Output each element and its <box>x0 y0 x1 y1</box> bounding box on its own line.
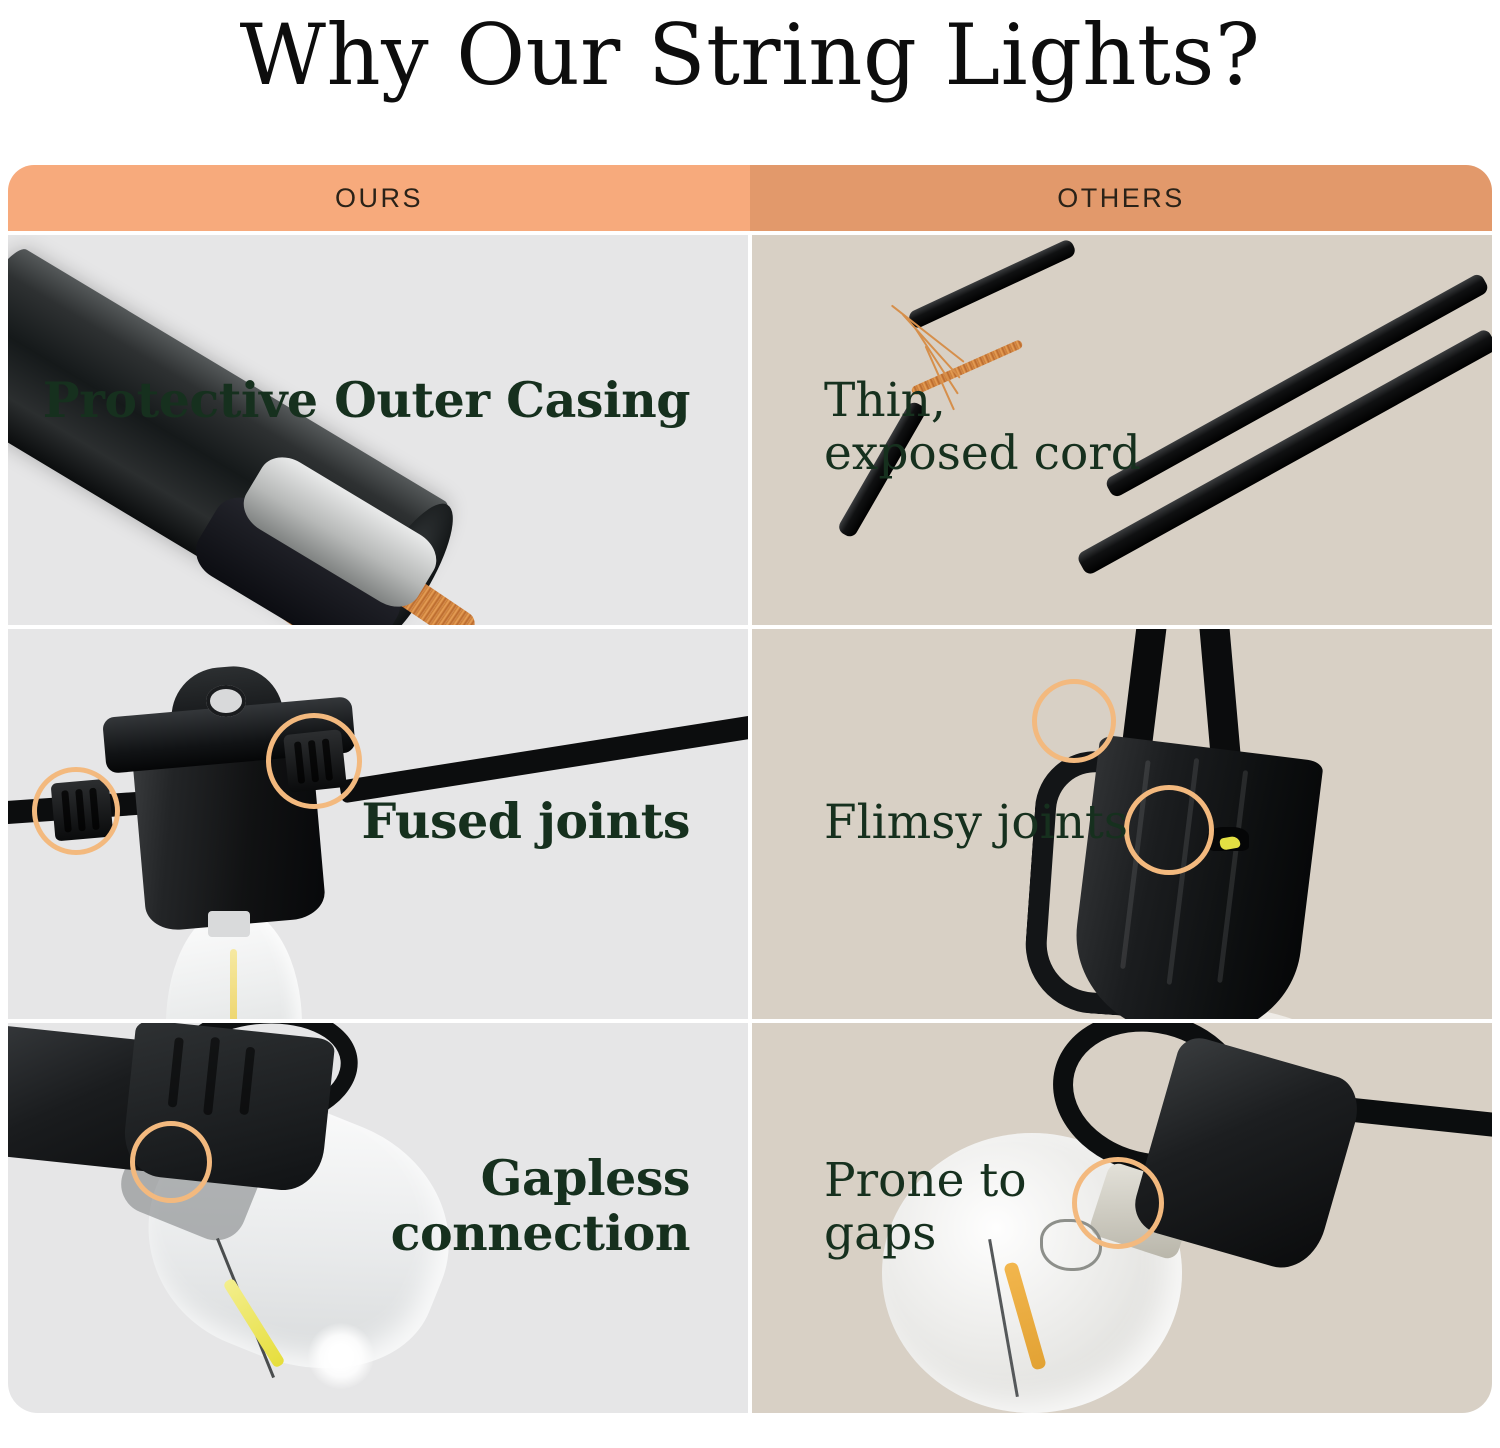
comparison-row-joints: Fused joints Flimsy joints <box>8 629 1492 1019</box>
others-caption-casing: Thin,exposed cord <box>824 375 1141 480</box>
ours-cell-connection: Gaplessconnection <box>8 1023 748 1413</box>
column-header-others: OTHERS <box>750 165 1492 231</box>
comparison-row-casing: Protective Outer Casing Thin,exposed cor… <box>8 235 1492 625</box>
ours-caption-casing: Protective Outer Casing <box>43 373 690 428</box>
others-caption-joints: Flimsy joints <box>824 797 1128 850</box>
others-caption-connection-line1: Prone to <box>824 1153 1027 1208</box>
others-cell-connection: Prone togaps <box>752 1023 1492 1413</box>
comparison-table: OURS OTHERS Protective Outer Casing <box>8 165 1492 1413</box>
others-caption-connection: Prone togaps <box>824 1155 1027 1260</box>
others-cell-casing: Thin,exposed cord <box>752 235 1492 625</box>
comparison-row-connection: Gaplessconnection Prone togaps <box>8 1023 1492 1413</box>
ours-cell-casing: Protective Outer Casing <box>8 235 748 625</box>
column-header-ours-label: OURS <box>335 183 423 214</box>
bulb-cap <box>208 911 250 937</box>
socket-hang-hole <box>206 685 246 717</box>
highlight-circle-gap <box>1072 1157 1164 1249</box>
socket-cord-right <box>339 714 748 804</box>
column-header-others-label: OTHERS <box>1057 183 1185 214</box>
others-caption-casing-line2: exposed cord <box>824 426 1141 481</box>
column-header-ours: OURS <box>8 165 750 231</box>
ours-cell-joints: Fused joints <box>8 629 748 1019</box>
highlight-circle-joint-right <box>266 713 362 809</box>
highlight-circle-flimsy-gap <box>1124 785 1214 875</box>
others-cell-joints: Flimsy joints <box>752 629 1492 1019</box>
ours-caption-joints: Fused joints <box>361 794 690 849</box>
ours-caption-connection-line1: Gapless <box>481 1149 690 1207</box>
comparison-infographic: Why Our String Lights? OURS OTHERS Prote… <box>0 0 1500 1448</box>
others-caption-connection-line2: gaps <box>824 1206 936 1261</box>
others-caption-casing-line1: Thin, <box>824 373 946 428</box>
ours-caption-connection-line2: connection <box>391 1204 690 1262</box>
ours-caption-connection: Gaplessconnection <box>391 1151 690 1261</box>
highlight-circle-gapless <box>130 1121 212 1203</box>
bulb-filament <box>230 949 237 1019</box>
bulb-glow-spot <box>308 1323 374 1389</box>
comparison-header-band: OURS OTHERS <box>8 165 1492 231</box>
thin-cord-broken-end <box>907 238 1078 330</box>
thin-cord-secondary <box>1104 272 1490 499</box>
highlight-circle-flimsy-hook <box>1032 679 1116 763</box>
flimsy-socket-body <box>1065 734 1324 1019</box>
page-title: Why Our String Lights? <box>0 0 1500 110</box>
highlight-circle-joint-left <box>32 767 120 855</box>
